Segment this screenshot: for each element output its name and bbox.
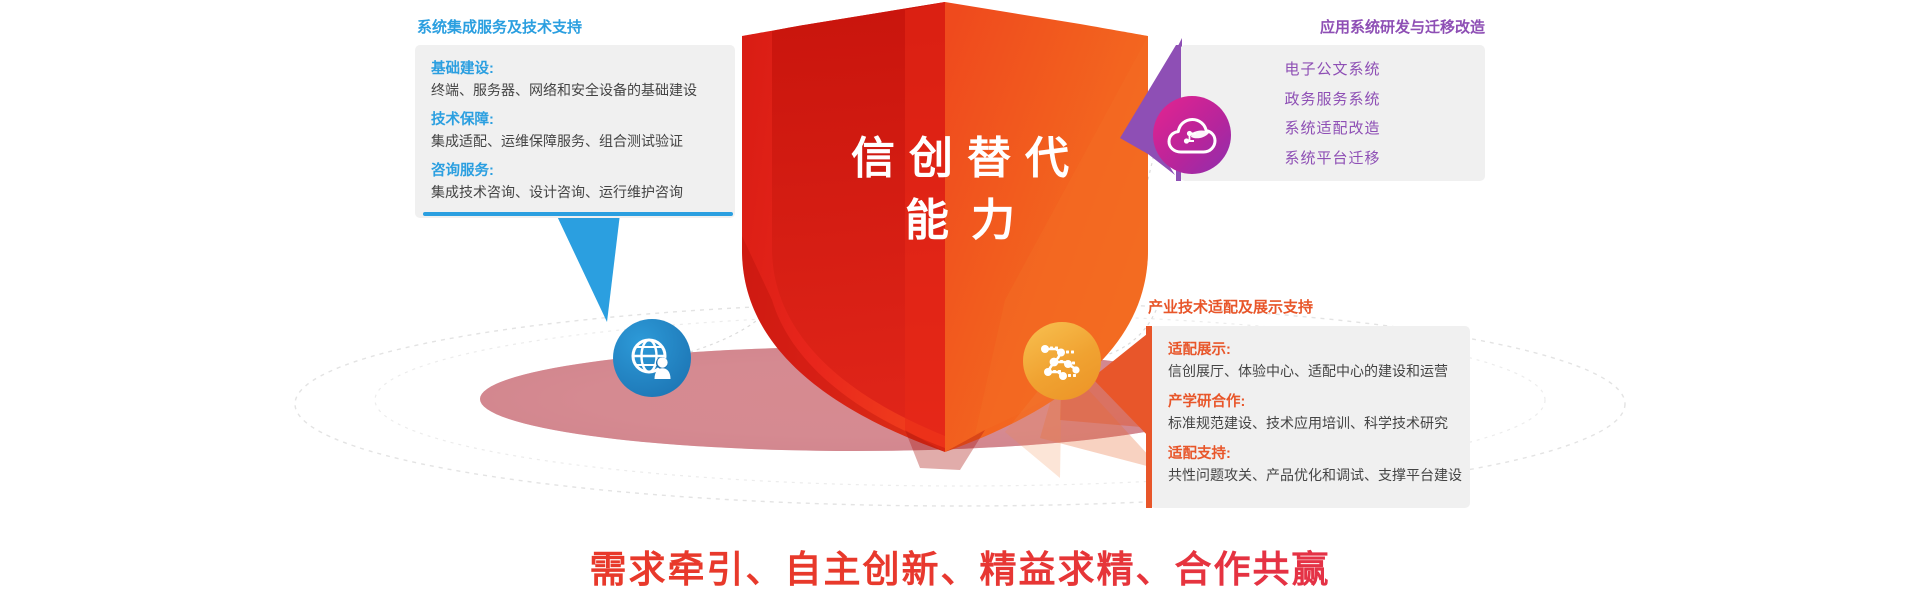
infographic-canvas: 信创替代 能力 系统集成服务及技术支持 基础建设: 终端、服务器、网络和安全设备… xyxy=(0,0,1920,605)
card-app-development[interactable]: 电子公文系统 政务服务系统 系统适配改造 系统平台迁移 xyxy=(1180,45,1485,181)
circuit-chip-icon[interactable] xyxy=(1023,322,1101,400)
list-item[interactable]: 政务服务系统 xyxy=(1180,85,1485,115)
card-title-industry-adaptation: 产业技术适配及展示支持 xyxy=(1148,296,1313,317)
card-left-value-0: 终端、服务器、网络和安全设备的基础建设 xyxy=(431,80,719,101)
cloud-icon-glyph xyxy=(1165,111,1219,159)
card-br-key-0: 适配展示: xyxy=(1168,340,1454,361)
globe-user-icon-glyph xyxy=(626,332,678,384)
cloud-icon[interactable] xyxy=(1153,96,1231,174)
card-br-key-1: 产学研合作: xyxy=(1168,392,1454,413)
card-left-accent-underline xyxy=(423,212,733,216)
card-left-key-2: 咨询服务: xyxy=(431,161,719,182)
globe-user-icon[interactable] xyxy=(613,319,691,397)
card-title-app-development: 应用系统研发与迁移改造 xyxy=(1320,16,1485,37)
card-br-value-1: 标准规范建设、技术应用培训、科学技术研究 xyxy=(1168,413,1454,434)
card-top-right-list: 电子公文系统 政务服务系统 系统适配改造 系统平台迁移 xyxy=(1180,55,1485,173)
card-system-integration[interactable]: 基础建设: 终端、服务器、网络和安全设备的基础建设 技术保障: 集成适配、运维保… xyxy=(415,45,735,218)
card-left-value-2: 集成技术咨询、设计咨询、运行维护咨询 xyxy=(431,182,719,203)
card-left-key-0: 基础建设: xyxy=(431,59,719,80)
card-industry-adaptation[interactable]: 适配展示: 信创展厅、体验中心、适配中心的建设和运营 产学研合作: 标准规范建设… xyxy=(1150,326,1470,508)
card-left-key-1: 技术保障: xyxy=(431,110,719,131)
background-artwork xyxy=(0,0,1920,605)
tagline: 需求牵引、自主创新、精益求精、合作共赢 xyxy=(0,539,1920,593)
circuit-chip-icon-glyph xyxy=(1036,337,1088,385)
card-bottom-right-accent-bar xyxy=(1146,326,1152,508)
shield-center-strip xyxy=(905,2,945,452)
card-left-value-1: 集成适配、运维保障服务、组合测试验证 xyxy=(431,131,719,152)
card-br-key-2: 适配支持: xyxy=(1168,444,1454,465)
card-title-system-integration: 系统集成服务及技术支持 xyxy=(417,16,582,37)
list-item[interactable]: 电子公文系统 xyxy=(1180,55,1485,85)
card-br-value-2: 共性问题攻关、产品优化和调试、支撑平台建设 xyxy=(1168,465,1454,486)
card-br-value-0: 信创展厅、体验中心、适配中心的建设和运营 xyxy=(1168,361,1454,382)
